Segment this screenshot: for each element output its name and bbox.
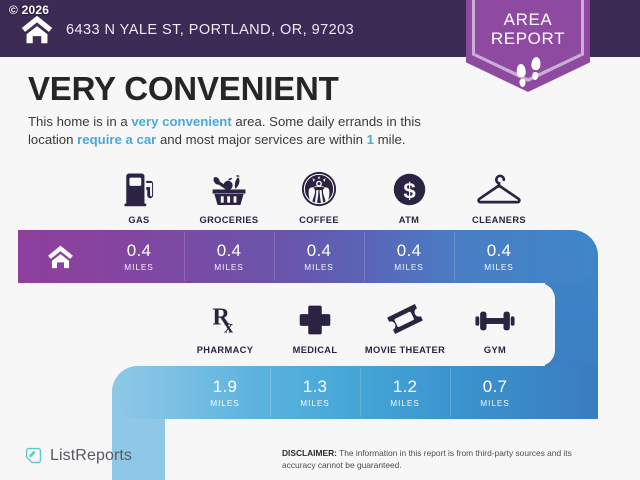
distance-values-row-1: 0.4 MILES 0.4 MILES 0.4 MILES 0.4 MILES … bbox=[94, 230, 544, 283]
footprint-left bbox=[516, 63, 527, 87]
distance-unit: MILES bbox=[300, 398, 329, 408]
distance-unit: MILES bbox=[124, 262, 153, 272]
badge-label: AREA REPORT bbox=[466, 10, 590, 48]
distance-unit: MILES bbox=[480, 398, 509, 408]
distance-cell-atm: 0.4 MILES bbox=[364, 230, 454, 283]
property-address: 6433 N YALE ST, PORTLAND, OR, 97203 bbox=[66, 20, 354, 38]
category-label: GYM bbox=[484, 345, 506, 355]
logo-text: ListReports bbox=[50, 447, 132, 465]
category-label: COFFEE bbox=[299, 215, 339, 225]
distance-value: 0.7 bbox=[483, 378, 508, 396]
grocery-basket-icon bbox=[208, 168, 250, 208]
page-title: VERY CONVENIENT bbox=[28, 70, 339, 108]
gas-pump-icon bbox=[119, 168, 159, 208]
distance-cell-gym: 0.7 MILES bbox=[450, 366, 540, 419]
distance-cell-medical: 1.3 MILES bbox=[270, 366, 360, 419]
desc-part-3: and most major services are within bbox=[156, 132, 366, 147]
category-atm: $ ATM bbox=[364, 168, 454, 225]
rx-prescription-icon: R x bbox=[207, 298, 243, 338]
category-label: GAS bbox=[128, 215, 149, 225]
category-gas: GAS bbox=[94, 168, 184, 225]
distance-value: 1.9 bbox=[213, 378, 238, 396]
clothes-hanger-icon bbox=[474, 168, 524, 208]
description-text: This home is in a very convenient area. … bbox=[28, 113, 458, 148]
distance-unit: MILES bbox=[304, 262, 333, 272]
distance-value: 0.4 bbox=[397, 242, 422, 260]
footprints-icon bbox=[466, 56, 590, 90]
listreports-logo: ListReports bbox=[24, 446, 132, 465]
category-label: MOVIE THEATER bbox=[365, 345, 445, 355]
distance-cell-movie-theater: 1.2 MILES bbox=[360, 366, 450, 419]
distance-unit: MILES bbox=[394, 262, 423, 272]
movie-ticket-icon bbox=[385, 298, 425, 338]
svg-text:$: $ bbox=[403, 178, 416, 203]
band-cutout-left bbox=[18, 283, 138, 366]
category-medical: MEDICAL bbox=[270, 298, 360, 355]
desc-part-1: This home is in a bbox=[28, 114, 131, 129]
dumbbell-icon bbox=[473, 298, 517, 338]
distance-value: 0.4 bbox=[307, 242, 332, 260]
category-cleaners: CLEANERS bbox=[454, 168, 544, 225]
area-report-infographic: 6433 N YALE ST, PORTLAND, OR, 97203 © 20… bbox=[0, 0, 640, 480]
category-label: PHARMACY bbox=[197, 345, 254, 355]
badge-label-line2: REPORT bbox=[466, 29, 590, 48]
distance-cell-gas: 0.4 MILES bbox=[94, 230, 184, 283]
distance-value: 1.2 bbox=[393, 378, 418, 396]
desc-highlight-3: 1 bbox=[367, 132, 374, 147]
desc-highlight-1: very convenient bbox=[131, 114, 231, 129]
header-address-group: 6433 N YALE ST, PORTLAND, OR, 97203 bbox=[18, 0, 354, 57]
desc-highlight-2: require a car bbox=[77, 132, 156, 147]
category-label: ATM bbox=[399, 215, 420, 225]
dollar-coin-icon: $ bbox=[391, 168, 428, 208]
disclaimer-label: DISCLAIMER: bbox=[282, 448, 337, 458]
listreports-logo-icon bbox=[24, 446, 43, 465]
footprint-right bbox=[529, 56, 540, 80]
distance-cell-coffee: 0.4 MILES bbox=[274, 230, 364, 283]
category-groceries: GROCERIES bbox=[184, 168, 274, 225]
category-label: GROCERIES bbox=[200, 215, 259, 225]
distance-unit: MILES bbox=[484, 262, 513, 272]
starbucks-coffee-icon bbox=[300, 168, 338, 208]
category-icon-row-1: GAS GROCERIES bbox=[94, 168, 544, 225]
category-movie-theater: MOVIE THEATER bbox=[360, 298, 450, 355]
medical-cross-icon bbox=[297, 298, 333, 338]
distance-value: 1.3 bbox=[303, 378, 328, 396]
distance-unit: MILES bbox=[214, 262, 243, 272]
category-coffee: COFFEE bbox=[274, 168, 364, 225]
distance-cell-cleaners: 0.4 MILES bbox=[454, 230, 544, 283]
distance-value: 0.4 bbox=[487, 242, 512, 260]
distance-unit: MILES bbox=[210, 398, 239, 408]
distance-unit: MILES bbox=[390, 398, 419, 408]
category-label: CLEANERS bbox=[472, 215, 526, 225]
category-label: MEDICAL bbox=[293, 345, 338, 355]
distance-values-row-2: 1.9 MILES 1.3 MILES 1.2 MILES 0.7 MILES bbox=[180, 366, 540, 419]
distance-cell-groceries: 0.4 MILES bbox=[184, 230, 274, 283]
badge-label-line1: AREA bbox=[466, 10, 590, 29]
distance-cell-pharmacy: 1.9 MILES bbox=[180, 366, 270, 419]
desc-part-4: mile. bbox=[374, 132, 406, 147]
distance-value: 0.4 bbox=[127, 242, 152, 260]
category-gym: GYM bbox=[450, 298, 540, 355]
svg-text:x: x bbox=[224, 317, 233, 337]
disclaimer: DISCLAIMER: The information in this repo… bbox=[282, 448, 604, 471]
category-pharmacy: R x PHARMACY bbox=[180, 298, 270, 355]
copyright-watermark: © 2026 bbox=[9, 3, 49, 17]
distance-value: 0.4 bbox=[217, 242, 242, 260]
category-icon-row-2: R x PHARMACY MEDICAL bbox=[180, 298, 540, 355]
band-home-icon bbox=[18, 230, 103, 283]
